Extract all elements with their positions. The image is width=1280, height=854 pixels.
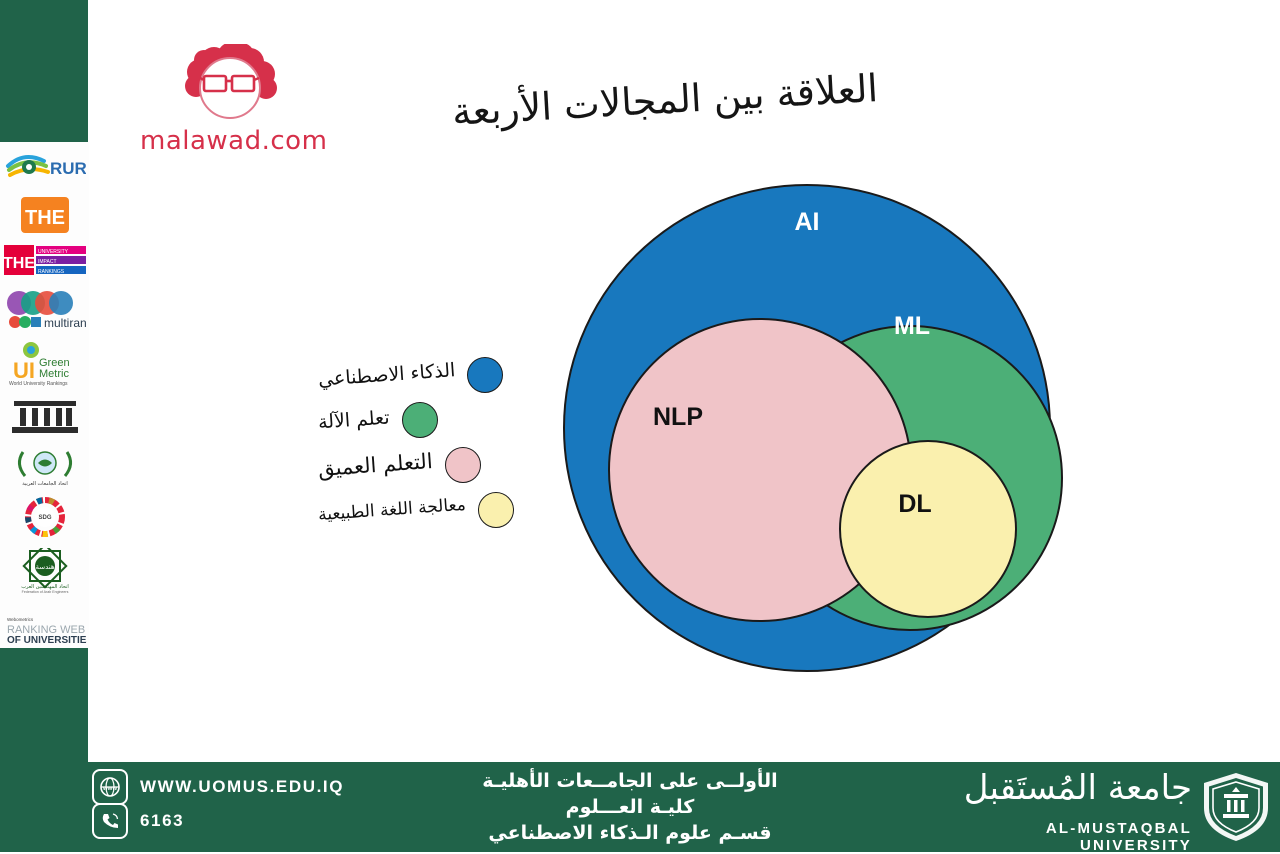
svg-text:هندسة: هندسة (35, 563, 54, 571)
svg-text:Federation of Arab Engineers: Federation of Arab Engineers (21, 590, 68, 594)
malawad-watermark: malawad.com (140, 44, 320, 166)
arab-universities-union-badge: اتحاد الجامعات العربية (2, 444, 87, 488)
svg-text:RUR: RUR (50, 159, 86, 178)
svg-text:RANKINGS: RANKINGS (38, 269, 65, 275)
legend-label-ml: تعلم الآلة (317, 406, 390, 433)
slide-canvas: RUR THE THE UNIVERSITY IMPACT RANKINGS (0, 0, 1280, 852)
footer-line-3: قسـم علوم الـذكاء الاصطناعي (430, 820, 830, 846)
university-branding: جامعة المُستَقبل AL-MUSTAQBAL UNIVERSITY (930, 762, 1280, 852)
legend-item-nlp: معالجة اللغة الطبيعية (318, 487, 558, 532)
arab-engineers-federation-badge: هندسة اتحاد المهندسين العرب Federation o… (2, 548, 87, 594)
svg-text:SDG: SDG (38, 515, 51, 521)
ui-greenmetric-badge: UI Green Metric World University Ranking… (2, 340, 87, 386)
afro-face-glasses-icon (140, 44, 320, 130)
globe-www-icon: www (92, 769, 128, 805)
svg-text:IMPACT: IMPACT (38, 259, 57, 265)
rur-ranking-badge: RUR (2, 146, 87, 186)
svg-text:THE: THE (3, 255, 35, 272)
classical-building-badge (2, 394, 87, 436)
legend-label-dl: التعلم العميق (317, 449, 433, 481)
legend-swatch-ai (467, 357, 503, 393)
legend-item-ml: تعلم الآلة (318, 397, 558, 442)
legend-label-nlp: معالجة اللغة الطبيعية (317, 494, 466, 524)
legend-swatch-dl (445, 447, 481, 483)
svg-text:www: www (102, 786, 117, 792)
legend-item-ai: الذكاء الاصطناعي (318, 352, 558, 397)
venn-circle-dl (840, 441, 1016, 617)
svg-text:THE: THE (25, 207, 65, 229)
university-name-ar: جامعة المُستَقبل (942, 768, 1192, 808)
legend-swatch-ml (402, 402, 438, 438)
the-impact-rankings-badge: THE UNIVERSITY IMPACT RANKINGS (2, 242, 87, 278)
webometrics-badge: Webometrics RANKING WEB OF UNIVERSITIES (2, 612, 87, 646)
malawad-brand-text: malawad.com (140, 126, 320, 156)
venn-diagram: AIMLNLPDL (560, 178, 1080, 678)
svg-text:UI: UI (13, 358, 35, 383)
footer-line-1: الأولــى على الجامــعات الأهليـة (430, 768, 830, 794)
university-shield-crest-icon (1198, 770, 1274, 844)
svg-text:OF UNIVERSITIES: OF UNIVERSITIES (7, 635, 87, 645)
legend-item-dl: التعلم العميق (318, 442, 558, 487)
legend-label-ai: الذكاء الاصطناعي (317, 359, 456, 391)
footer-phone: 6163 (140, 811, 184, 831)
legend-swatch-nlp (478, 492, 514, 528)
svg-text:Metric: Metric (39, 368, 69, 380)
footer-department-info: الأولــى على الجامــعات الأهليـة كليـة ا… (430, 768, 830, 846)
footer-contact: www WWW.UOMUS.EDU.IQ 6163 (92, 770, 422, 838)
svg-text:multirank: multirank (44, 316, 87, 330)
svg-text:World University Rankings: World University Rankings (9, 381, 68, 386)
footer-phone-line[interactable]: 6163 (92, 804, 422, 838)
sdg-wheel-badge: SDG (2, 496, 87, 540)
footer-website-line[interactable]: www WWW.UOMUS.EDU.IQ (92, 770, 422, 804)
university-name-en: AL-MUSTAQBAL UNIVERSITY (942, 820, 1192, 854)
u-multirank-badge: multirank (2, 288, 87, 332)
svg-text:اتحاد الجامعات العربية: اتحاد الجامعات العربية (22, 481, 68, 487)
footer-website: WWW.UOMUS.EDU.IQ (140, 777, 344, 797)
footer-line-2: كليـة العـــلوم (430, 794, 830, 820)
svg-text:Webometrics: Webometrics (7, 617, 34, 622)
svg-text:UNIVERSITY: UNIVERSITY (38, 249, 69, 255)
legend: الذكاء الاصطناعي تعلم الآلة التعلم العمي… (318, 352, 558, 532)
the-ranking-badge: THE (2, 194, 87, 236)
phone-icon (92, 803, 128, 839)
